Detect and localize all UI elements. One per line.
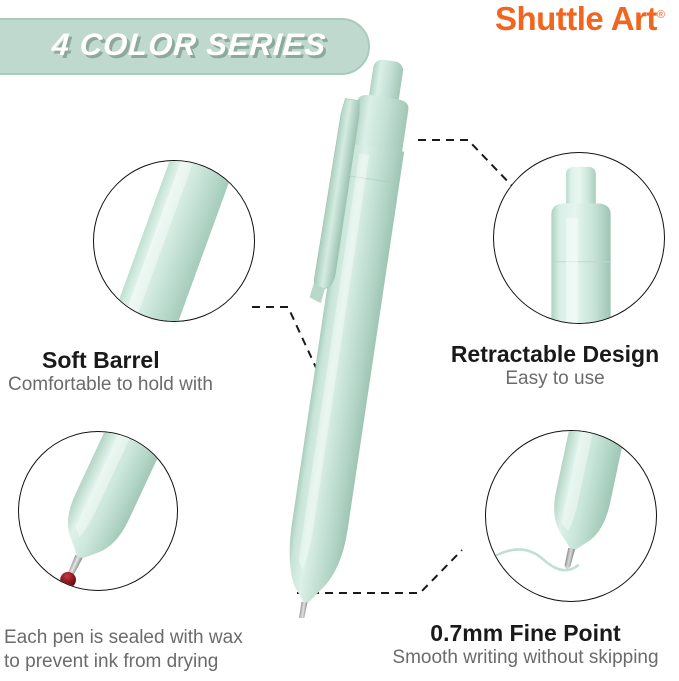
connector-retractable — [418, 140, 516, 190]
callout-soft-barrel — [93, 160, 255, 322]
callout-retractable — [493, 152, 665, 324]
main-pen-illustration — [246, 58, 456, 618]
feature-title-fine-point: 0.7mm Fine Point — [372, 620, 679, 646]
feature-title-retractable: Retractable Design — [432, 341, 678, 367]
feature-subtitle-fine-point: Smooth writing without skipping — [372, 646, 679, 670]
feature-subtitle-wax-line2: to prevent ink from drying — [4, 650, 243, 674]
connector-soft-barrel — [252, 307, 330, 398]
feature-wax-seal: Each pen is sealed with wax to prevent i… — [4, 626, 243, 674]
series-banner-label: 4 COLOR SERIES — [51, 27, 328, 63]
product-infographic: Shuttle Art® 4 COLOR SERIES — [0, 0, 679, 681]
pen-tip-wax-closeup — [19, 432, 177, 590]
feature-fine-point: 0.7mm Fine Point Smooth writing without … — [372, 620, 679, 670]
barrel-closeup — [94, 161, 254, 321]
connector-fine-point — [297, 550, 462, 593]
writing-tip-closeup — [486, 431, 656, 601]
plunger-closeup — [494, 153, 664, 323]
callout-wax-seal — [18, 431, 178, 591]
brand-name: Shuttle Art — [495, 0, 657, 37]
feature-subtitle-retractable: Easy to use — [432, 367, 678, 391]
feature-retractable-design: Retractable Design Easy to use — [432, 341, 678, 391]
registered-trademark-icon: ® — [657, 9, 665, 21]
brand-logo: Shuttle Art® — [495, 2, 665, 35]
feature-soft-barrel: Soft Barrel Comfortable to hold with — [8, 347, 213, 397]
feature-title-soft-barrel: Soft Barrel — [8, 347, 213, 373]
feature-subtitle-wax-line1: Each pen is sealed with wax — [4, 626, 243, 650]
feature-subtitle-soft-barrel: Comfortable to hold with — [8, 373, 213, 397]
callout-fine-point — [485, 430, 657, 602]
